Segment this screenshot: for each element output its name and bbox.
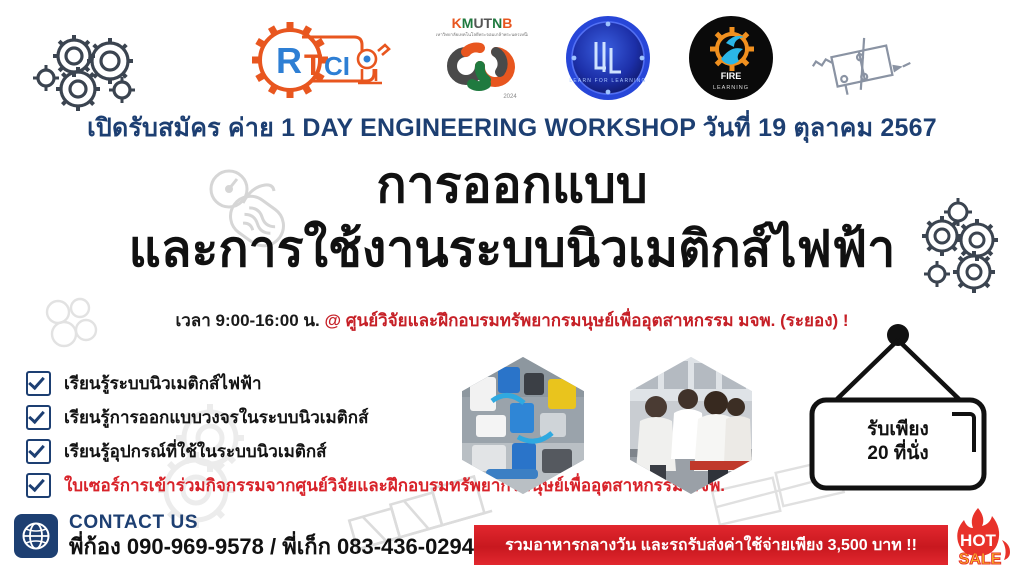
hot-sale-top: HOT — [960, 531, 997, 550]
logo-strip: R T CI KMUTNB มหาวิทยาลัยเทคโนโลยีพระจอม… — [0, 8, 1024, 108]
at-symbol: @ — [324, 311, 341, 330]
rtci-letter-r: R — [276, 40, 302, 81]
kmutnb-year: 2024 — [503, 94, 517, 100]
list-item-label: เรียนรู้การออกแบบวงจรในระบบนิวเมติกส์ — [64, 404, 368, 431]
kmutnb-65-logo: KMUTNB มหาวิทยาลัยเทคโนโลยีพระจอมเกล้าพร… — [436, 12, 528, 104]
rtci-letter-t: T — [304, 49, 322, 82]
seat-availability-sign — [798, 322, 998, 494]
contact-block: CONTACT US พี่ก้อง 090-969-9578 / พี่เก็… — [14, 512, 474, 559]
page-title-line2: และการใช้งานระบบนิวเมติกส์ไฟฟ้า — [0, 222, 1024, 276]
fire-learning-logo: FIRE LEARNING — [688, 15, 774, 101]
venue-label: ศูนย์วิจัยและฝึกอบรมทรัพยากรมนุษย์เพื่ออ… — [346, 311, 849, 330]
list-item-label: เรียนรู้ระบบนิวเมติกส์ไฟฟ้า — [64, 370, 262, 397]
fire-subtitle: LEARNING — [713, 85, 749, 91]
globe-icon — [14, 514, 58, 558]
price-banner: รวมอาหารกลางวัน และรถรับส่งค่าใช้จ่ายเพี… — [474, 525, 948, 565]
price-banner-text: รวมอาหารกลางวัน และรถรับส่งค่าใช้จ่ายเพี… — [505, 533, 917, 558]
list-item-label: เรียนรู้อุปกรณ์ที่ใช้ในระบบนิวเมติกส์ — [64, 438, 327, 465]
rtci-logo: R T CI — [250, 17, 400, 99]
contact-phones[interactable]: พี่ก้อง 090-969-9578 / พี่เก็ก 083-436-0… — [69, 534, 474, 559]
checkbox-checked-icon — [26, 439, 51, 464]
checkbox-checked-icon — [26, 473, 51, 498]
poster-root: R T CI KMUTNB มหาวิทยาลัยเทคโนโลยีพระจอม… — [0, 0, 1024, 577]
l4l-tagline: LEARN FOR LEARNING — [569, 78, 646, 84]
kmutnb-wordmark: KMUTNB — [452, 15, 513, 31]
checkbox-checked-icon — [26, 371, 51, 396]
fire-title: FIRE — [721, 71, 742, 81]
hot-sale-badge: HOT SALE — [944, 506, 1016, 574]
event-subtitle: เปิดรับสมัคร ค่าย 1 DAY ENGINEERING WORK… — [0, 108, 1024, 148]
l4l-coin-logo: LEARN FOR LEARNING — [564, 14, 652, 102]
hot-sale-bottom: SALE — [959, 551, 1002, 568]
time-label: เวลา 9:00-16:00 น. — [175, 311, 319, 330]
rtci-letter-ci: CI — [324, 51, 350, 81]
contact-title: CONTACT US — [69, 512, 474, 534]
page-title-line1: การออกแบบ — [0, 158, 1024, 212]
checkbox-checked-icon — [26, 405, 51, 430]
list-item-label: ใบเซอร์การเข้าร่วมกิจกรรมจากศูนย์วิจัยแล… — [64, 472, 725, 499]
svg-text:มหาวิทยาลัยเทคโนโลยีพระจอมเกล้: มหาวิทยาลัยเทคโนโลยีพระจอมเกล้าพระนครเหน… — [436, 31, 528, 37]
